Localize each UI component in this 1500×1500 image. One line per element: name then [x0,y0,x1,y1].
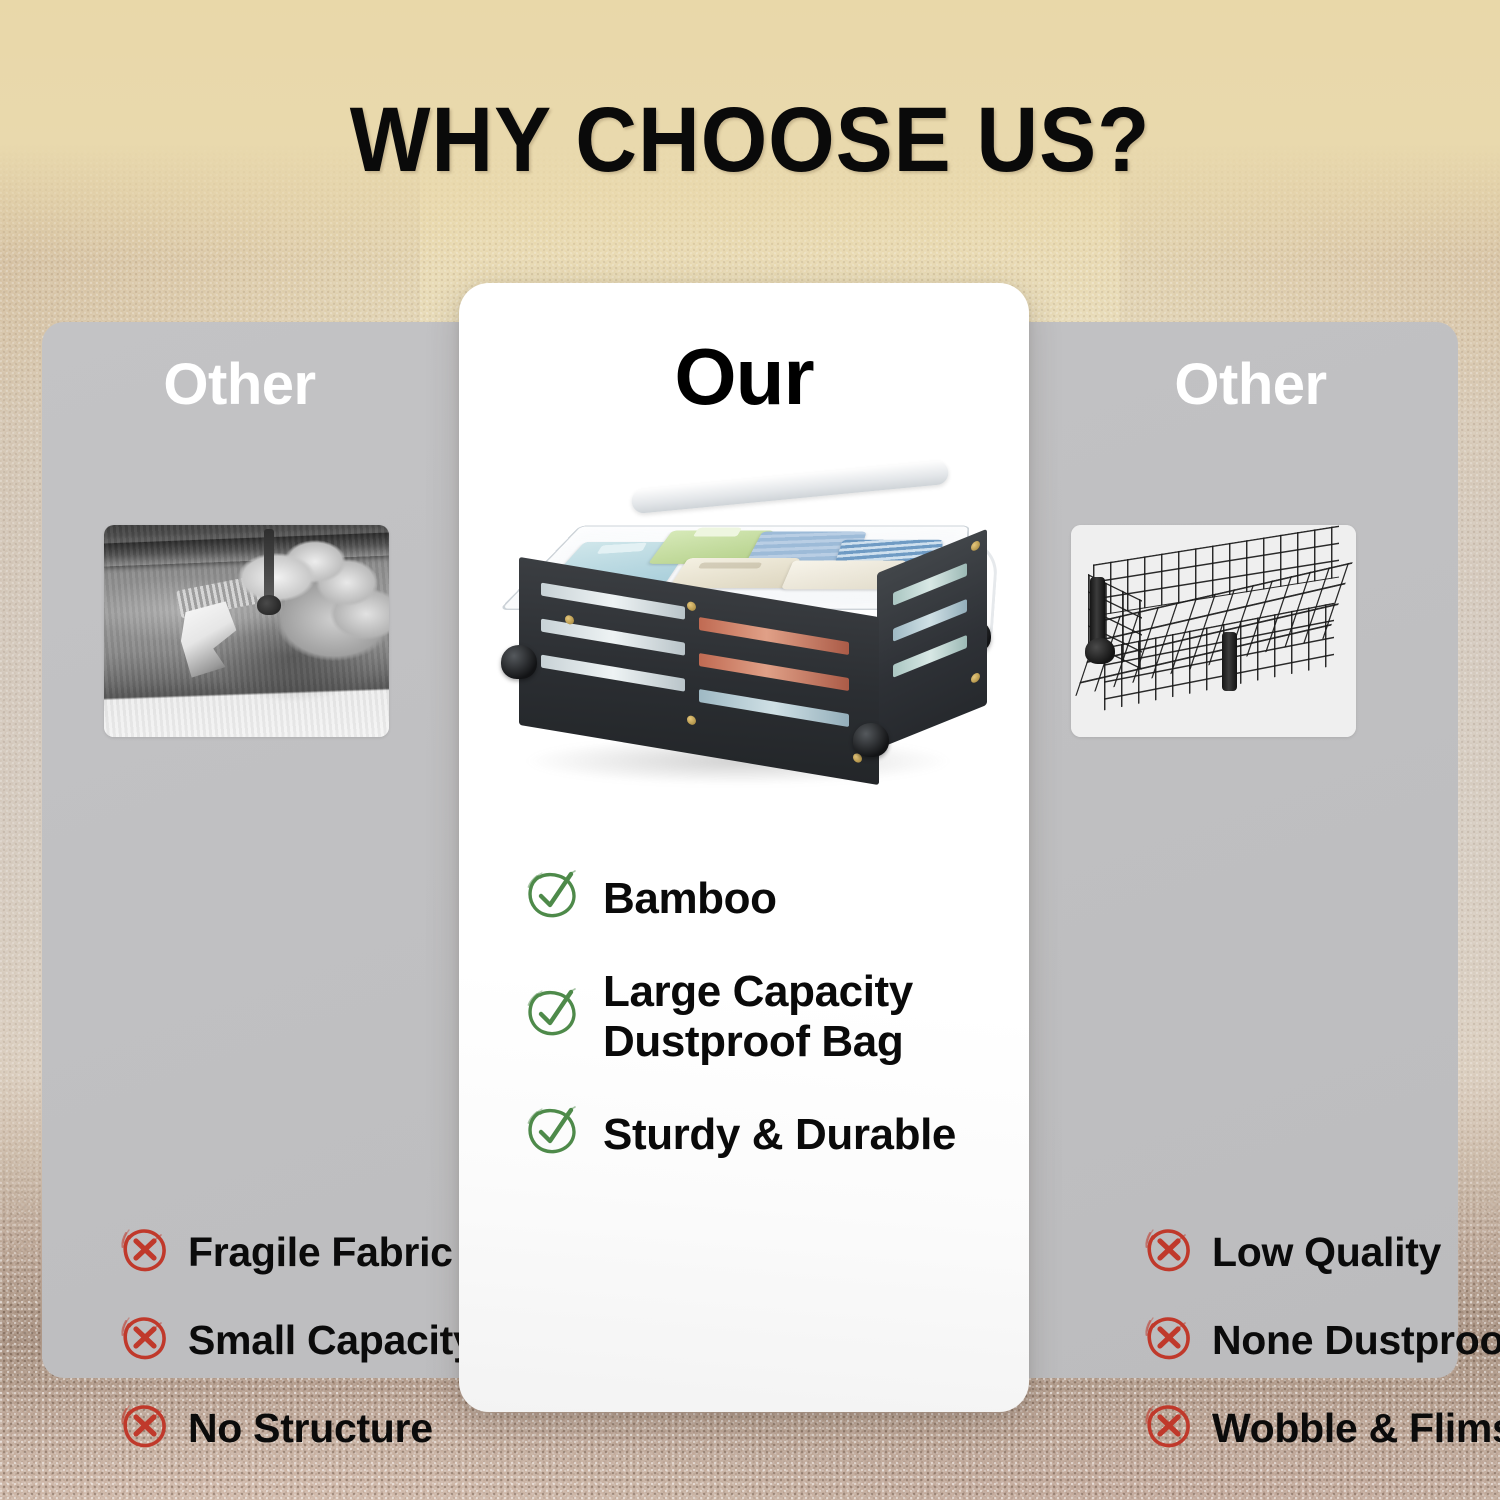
screw-icon [687,601,696,612]
list-item: None Dustproof [1144,1296,1500,1384]
check-circle-icon [525,868,581,929]
wire-basket-photo [1071,525,1356,737]
cross-circle-icon [1144,1401,1194,1456]
list-item: Wobble & Flimsy [1144,1384,1500,1472]
basket-caster-icon [1085,638,1115,664]
box-slat [699,617,849,655]
column-title-right: Other [1023,356,1478,414]
check-circle-icon [525,986,581,1047]
feature-label: Sturdy & Durable [603,1110,956,1160]
screw-icon [971,672,980,685]
box-slat [541,619,685,656]
box-slat [541,583,685,620]
box-slat [541,655,685,692]
feature-label: None Dustproof [1212,1320,1500,1361]
feature-label: Small Capacity [188,1320,476,1361]
feature-list-right: Low Quality None Dustproof [1144,1208,1500,1472]
feature-list-left: Fragile Fabric Small Capacity [120,1208,476,1472]
caster-wheel [853,723,889,757]
list-item: Fragile Fabric [120,1208,476,1296]
check-circle-icon [525,1104,581,1165]
feature-label: Low Quality [1212,1232,1441,1273]
cross-circle-icon [120,1313,170,1368]
thumbnail-other-left [104,525,389,737]
screw-icon [971,540,980,553]
our-card: Our [459,283,1029,1412]
thumbnail-other-right [1071,525,1356,737]
box-slat [893,563,967,606]
cross-circle-icon [120,1401,170,1456]
cross-circle-icon [1144,1225,1194,1280]
feature-label: Fragile Fabric [188,1232,453,1273]
list-item: Bamboo [525,868,1005,929]
box-slat [893,599,967,642]
wire-basket-body [1082,542,1350,716]
caster-wheel [501,645,537,679]
infographic-canvas: WHY CHOOSE US? Other Other [0,0,1500,1500]
feature-label: Large Capacity Dustproof Bag [603,967,913,1066]
box-slat [699,689,849,727]
feature-label: Bamboo [603,874,777,924]
list-item: Low Quality [1144,1208,1500,1296]
list-item: No Structure [120,1384,476,1472]
list-item: Sturdy & Durable [525,1104,1005,1165]
box-slat [893,635,967,678]
cross-circle-icon [1144,1313,1194,1368]
feature-label: Wobble & Flimsy [1212,1408,1500,1449]
basket-post-middle [1222,632,1237,691]
screw-icon [687,715,696,726]
feature-label: No Structure [188,1408,433,1449]
product-image [467,469,1023,814]
bag-roll-edge [631,460,950,514]
box-slat [699,653,849,691]
clothing-item [669,558,801,588]
column-title-center: Our [459,337,1029,417]
cross-circle-icon [120,1225,170,1280]
list-item: Small Capacity [120,1296,476,1384]
list-item: Large Capacity Dustproof Bag [525,967,1005,1066]
page-title: WHY CHOOSE US? [53,94,1448,186]
feature-list-center: Bamboo Large Capacity Dustproof Bag [525,868,1005,1165]
zipper-pull-icon [264,529,274,601]
column-title-left: Other [12,356,467,414]
